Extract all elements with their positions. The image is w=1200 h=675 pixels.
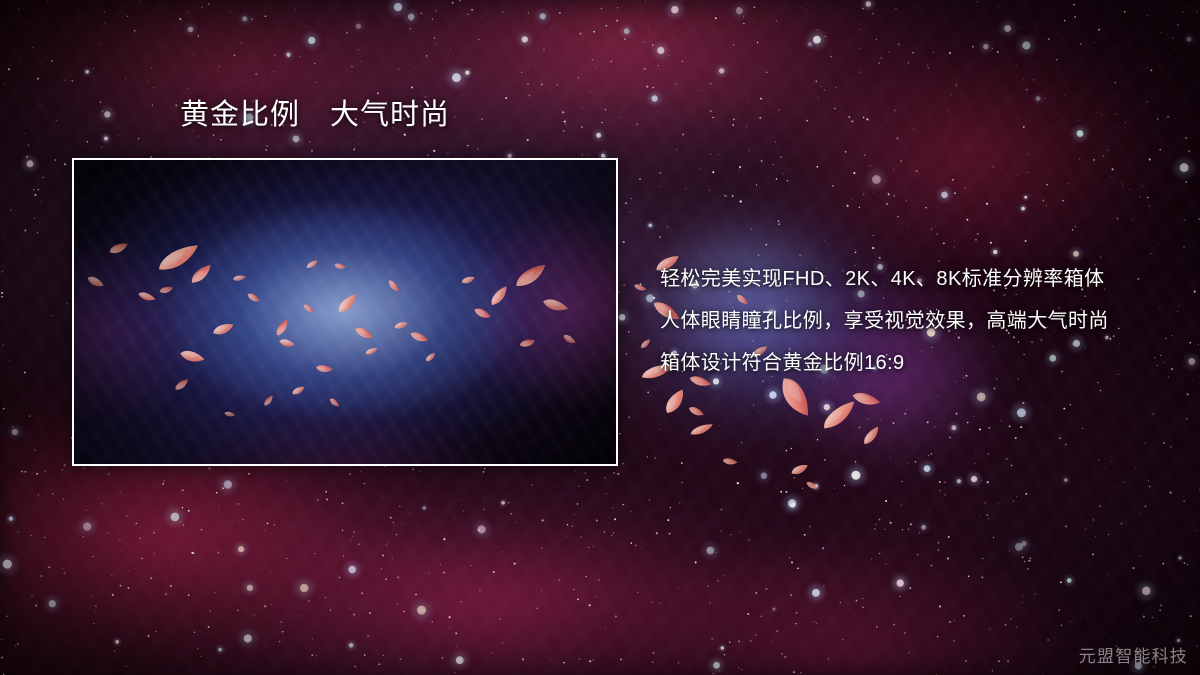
watermark: 元盟智能科技 [1079,642,1188,667]
photo-vignette [74,160,616,464]
body-copy: 轻松完美实现FHD、2K、4K、8K标准分辨率箱体 人体眼睛瞳孔比例，享受视觉效… [660,258,1160,384]
body-copy-line-1: 轻松完美实现FHD、2K、4K、8K标准分辨率箱体 [660,258,1160,300]
body-copy-line-3: 箱体设计符合黄金比例16:9 [660,342,1160,384]
body-copy-line-2: 人体眼睛瞳孔比例，享受视觉效果，高端大气时尚 [660,300,1160,342]
page-title: 黄金比例 大气时尚 [180,101,450,130]
framed-photo [72,158,618,466]
framed-photo-image [74,160,616,464]
slide-canvas: 黄金比例 大气时尚 轻松完美实现FHD、2K、4K、8K标准分辨率箱体 人体眼睛… [0,0,1200,675]
